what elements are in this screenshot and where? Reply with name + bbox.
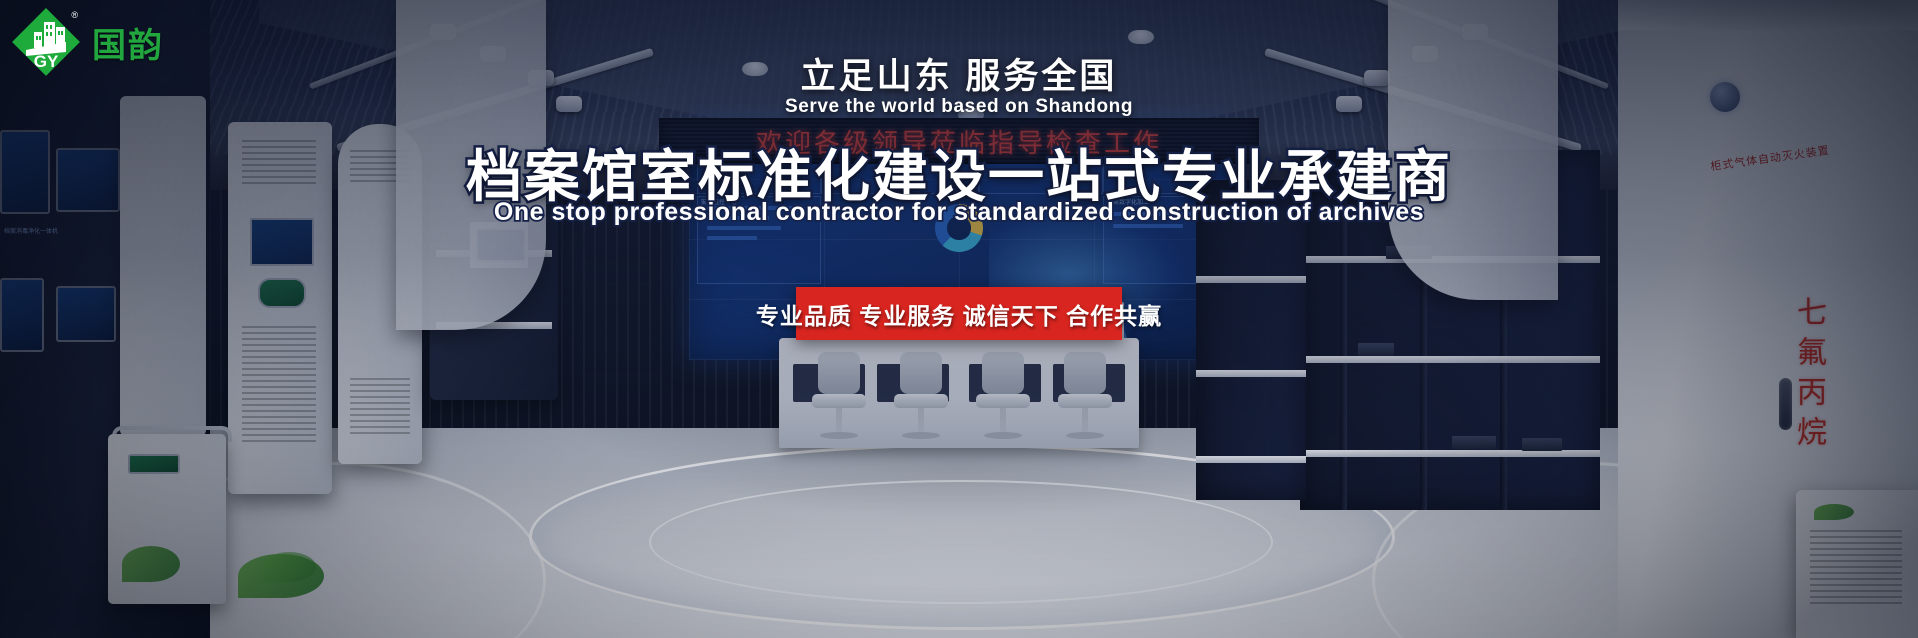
- slogan-button-label: 专业品质 专业服务 诚信天下 合作共赢: [756, 297, 1162, 331]
- headline-english: One stop professional contractor for sta…: [0, 198, 1918, 227]
- trademark-icon: ®: [71, 10, 78, 20]
- tagline-english: Serve the world based on Shandong: [0, 96, 1918, 118]
- slogan-button[interactable]: 专业品质 专业服务 诚信天下 合作共赢: [796, 287, 1122, 340]
- hero-banner: 档案管理系统平台 业务监管平台 智能库房管理 档案数据统计 安全监控中心 档案数…: [0, 0, 1918, 638]
- tagline-chinese: 立足山东 服务全国: [0, 48, 1918, 99]
- text-overlay: GY ® 国韵 立足山东 服务全国 Serve the world based …: [0, 0, 1918, 638]
